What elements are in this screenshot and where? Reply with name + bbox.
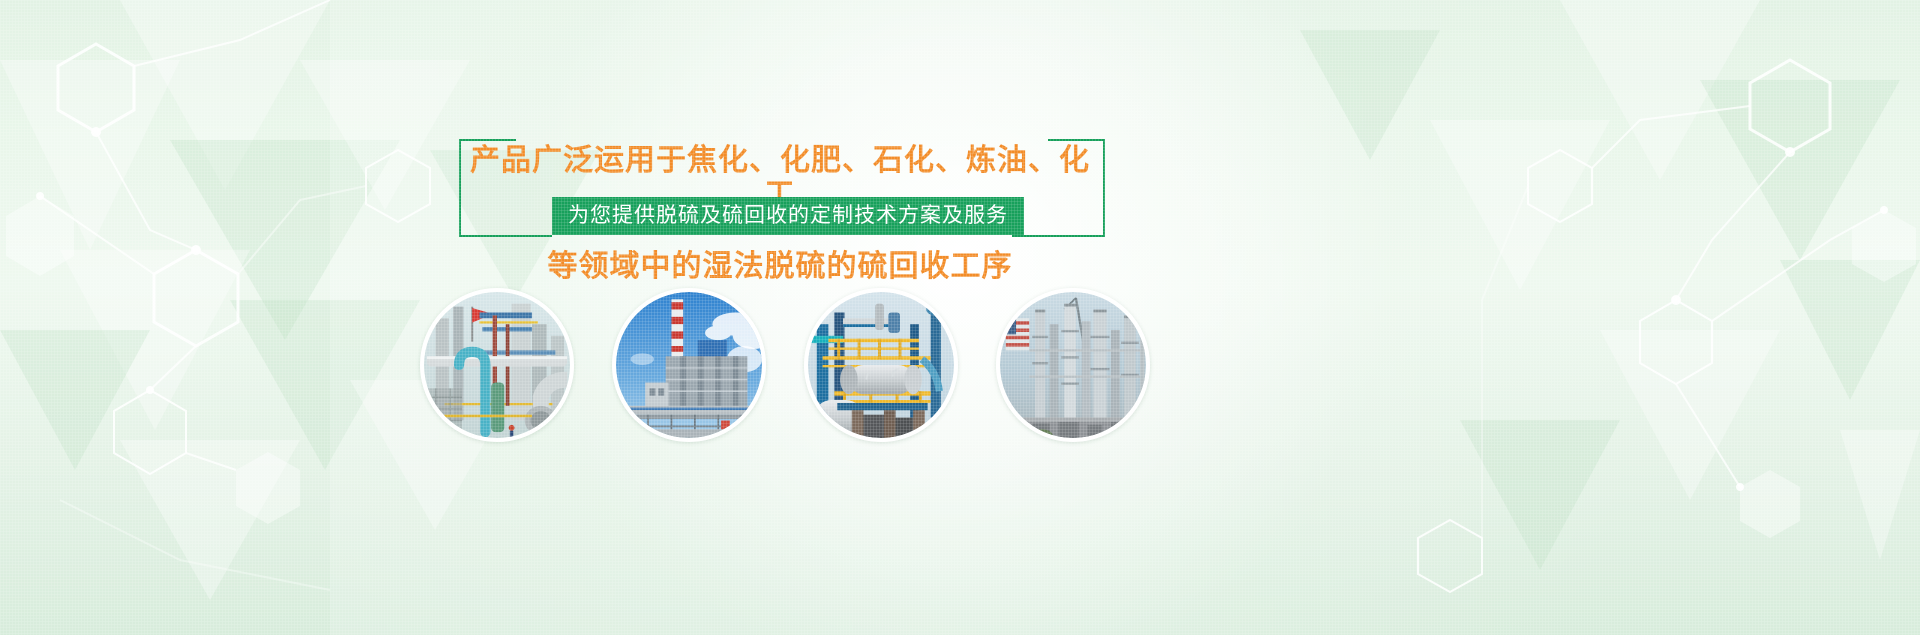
photo-refinery-stack[interactable] [612,288,766,442]
headline-line-2: 等领域中的湿法脱硫的硫回收工序 [460,250,1100,284]
photo-2-image [616,292,762,438]
photo-distillation-columns[interactable] [996,288,1150,442]
subtitle-banner: 为您提供脱硫及硫回收的定制技术方案及服务 [552,197,1024,235]
photo-storage-tanks[interactable] [804,288,958,442]
photo-4-image [1000,292,1146,438]
photo-desulfurization-unit[interactable] [420,288,574,442]
hero-banner: 产品广泛运用于焦化、化肥、石化、炼油、化工 等领域中的湿法脱硫的硫回收工序 为您… [0,0,1920,635]
photo-row [420,288,1180,458]
headline-block: 产品广泛运用于焦化、化肥、石化、炼油、化工 等领域中的湿法脱硫的硫回收工序 为您… [0,0,1920,280]
photo-1-image [424,292,570,438]
photo-3-image [808,292,954,438]
